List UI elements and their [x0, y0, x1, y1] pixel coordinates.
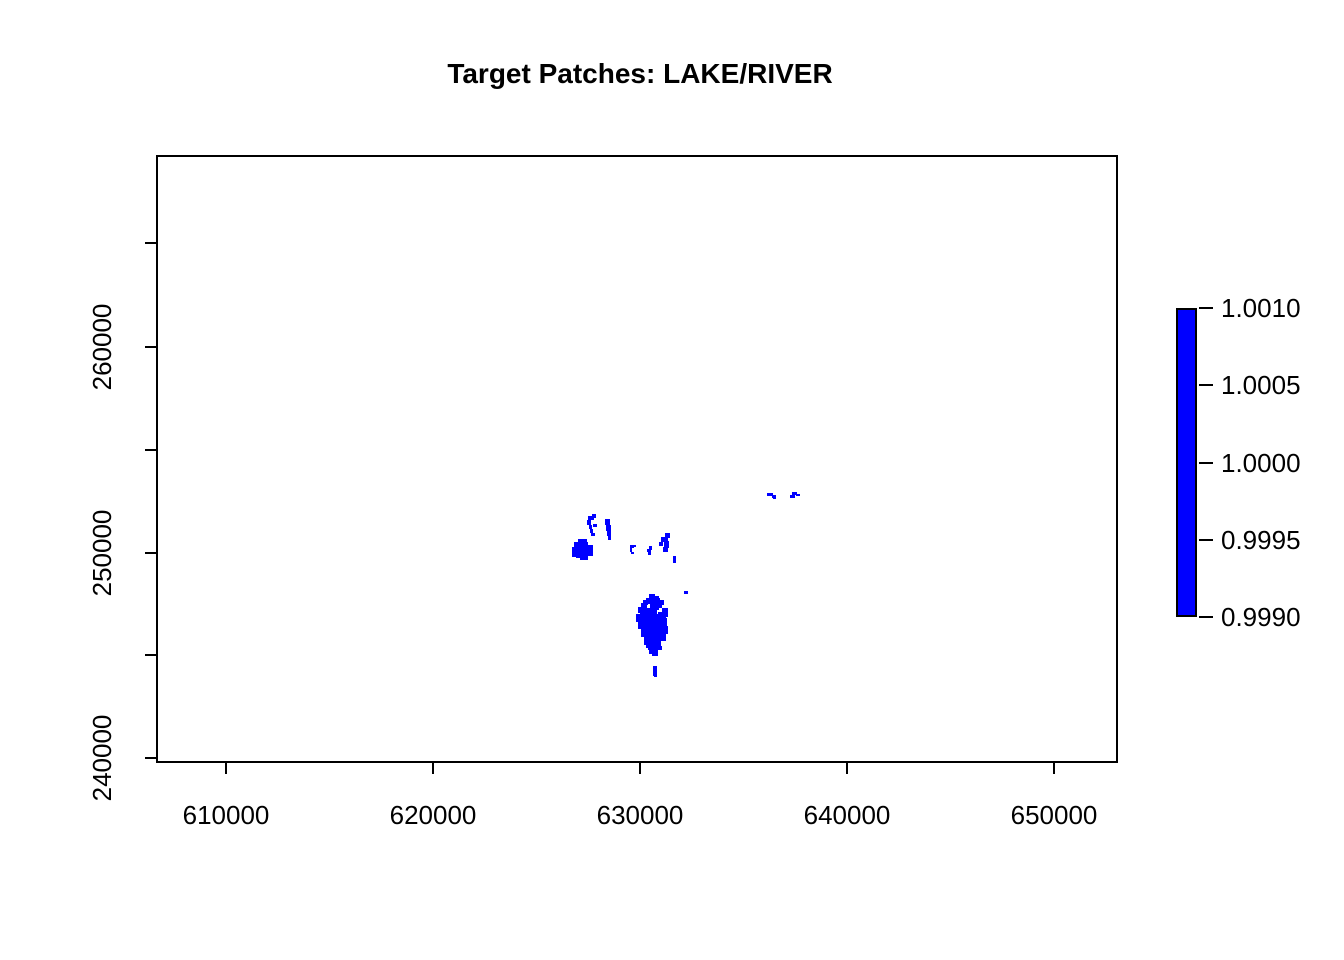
colorbar-tick	[1199, 539, 1213, 541]
colorbar-tick-label: 1.0000	[1221, 450, 1301, 476]
colorbar-tick	[1199, 462, 1213, 464]
raster-patch-cell	[591, 533, 595, 536]
raster-patch-cell	[608, 536, 611, 540]
raster-patch-cell	[588, 545, 593, 552]
y-axis-tick-label: 250000	[86, 473, 118, 633]
raster-patch-cell	[580, 556, 588, 560]
y-axis-tick-label: 240000	[86, 678, 118, 838]
y-axis-tick	[145, 654, 156, 656]
raster-patch-cell	[652, 596, 659, 603]
x-axis-tick-label: 610000	[146, 800, 306, 831]
colorbar-tick	[1199, 307, 1213, 309]
colorbar-tick-label: 1.0010	[1221, 295, 1301, 321]
colorbar-tick-label: 0.9990	[1221, 604, 1301, 630]
colorbar-tick-label: 0.9995	[1221, 527, 1301, 553]
x-axis-tick	[432, 763, 434, 774]
y-axis-tick	[145, 346, 156, 348]
raster-patch-cell	[633, 545, 636, 547]
colorbar-tick	[1199, 616, 1213, 618]
x-axis-tick-label: 630000	[560, 800, 720, 831]
y-axis-tick	[145, 242, 156, 244]
raster-patch-cell	[665, 533, 670, 538]
raster-patch-cell	[592, 514, 596, 518]
x-axis-tick-label: 620000	[353, 800, 513, 831]
raster-patch-cell	[662, 626, 668, 634]
raster-patch-cell	[773, 497, 776, 499]
x-axis-tick	[1053, 763, 1055, 774]
x-axis-tick	[846, 763, 848, 774]
raster-patch-cell	[662, 608, 668, 617]
y-axis-tick-label: 260000	[86, 267, 118, 427]
raster-patch-cell	[649, 650, 654, 654]
raster-patch-cell	[593, 524, 597, 527]
x-axis-tick-label: 640000	[767, 800, 927, 831]
raster-patch-cell	[673, 556, 676, 563]
raster-patch-cell	[660, 634, 666, 641]
raster-patch-cell	[654, 670, 657, 677]
y-axis-tick	[145, 552, 156, 554]
colorbar-tick-label: 1.0005	[1221, 372, 1301, 398]
raster-patch-cell	[578, 539, 587, 543]
colorbar-legend	[1176, 308, 1197, 617]
raster-patch-cell	[648, 552, 651, 555]
y-axis-tick	[145, 757, 156, 759]
y-axis-tick	[145, 449, 156, 451]
raster-patch-cell	[572, 553, 577, 557]
raster-patch-cell	[631, 552, 634, 554]
x-axis-tick-label: 650000	[974, 800, 1134, 831]
raster-patch-cell	[659, 542, 663, 546]
raster-patch-cell	[646, 642, 653, 648]
raster-patch-cell	[663, 547, 668, 552]
raster-patch-cell	[649, 546, 652, 550]
plot-panel	[156, 155, 1118, 763]
plot-canvas: Target Patches: LAKE/RIVER 6100006200006…	[0, 0, 1344, 960]
raster-patch-cell	[659, 600, 664, 605]
raster-patch-cell	[790, 495, 795, 498]
raster-patch-cell	[656, 646, 662, 650]
page-title: Target Patches: LAKE/RIVER	[0, 58, 1280, 90]
colorbar-tick	[1199, 384, 1213, 386]
raster-patch-cell	[684, 591, 688, 594]
x-axis-tick	[225, 763, 227, 774]
x-axis-tick	[639, 763, 641, 774]
raster-patch-cell	[796, 494, 800, 496]
raster-layer	[158, 157, 1116, 761]
